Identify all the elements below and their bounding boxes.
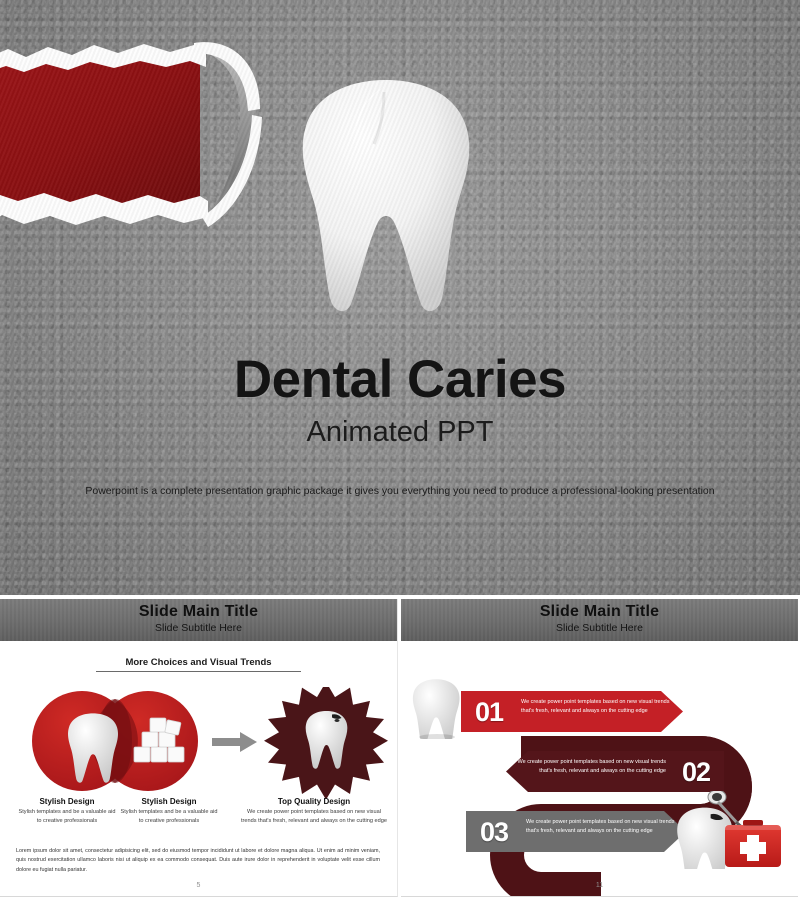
slide-thumbnails-row: Slide Main Title Slide Subtitle Here Mor… <box>0 595 800 900</box>
slide-title: Slide Main Title <box>0 599 397 621</box>
section-heading-rule <box>96 671 301 672</box>
page-description: Powerpoint is a complete presentation gr… <box>0 483 800 500</box>
process-diagram: 01 We create power point templates based… <box>401 599 798 896</box>
step-number: 01 <box>475 699 503 726</box>
caption-item: Stylish Design Stylish templates and be … <box>120 797 218 825</box>
first-aid-kit-icon <box>725 820 781 867</box>
step-text: We create power point templates based on… <box>521 698 671 716</box>
slide-header: Slide Main Title Slide Subtitle Here <box>0 599 397 641</box>
caption-title: Top Quality Design <box>240 797 388 806</box>
hero-slide: Dental Caries Animated PPT Powerpoint is… <box>0 0 800 595</box>
step-number: 03 <box>480 819 508 846</box>
section-heading: More Choices and Visual Trends <box>96 657 301 672</box>
section-heading-label: More Choices and Visual Trends <box>96 657 301 668</box>
presentation-preview-page: Dental Caries Animated PPT Powerpoint is… <box>0 0 800 900</box>
slide-page-number: 5 <box>0 882 397 889</box>
step-text: We create power point templates based on… <box>526 818 678 836</box>
caption-item: Stylish Design Stylish templates and be … <box>18 797 116 825</box>
slide-title: Slide Main Title <box>401 599 798 621</box>
process-step-01: 01 We create power point templates based… <box>461 691 683 732</box>
caption-title: Stylish Design <box>120 797 218 806</box>
torn-paper-graphic <box>0 33 262 233</box>
body-paragraph: Lorem ipsum dolor sit amet, consectetur … <box>16 847 380 875</box>
page-subtitle: Animated PPT <box>0 416 800 449</box>
starburst-result <box>262 687 390 799</box>
hero-text-block: Dental Caries Animated PPT Powerpoint is… <box>0 352 800 500</box>
process-step-02: 02 We create power point templates based… <box>506 751 724 792</box>
process-step-03: 03 We create power point templates based… <box>466 811 686 852</box>
slide-thumbnail-5[interactable]: Slide Main Title Slide Subtitle Here Mor… <box>0 599 398 897</box>
caption-item: Top Quality Design We create power point… <box>240 797 388 825</box>
dental-tools-group <box>673 791 783 869</box>
slide-subtitle: Slide Subtitle Here <box>401 622 798 634</box>
step-text: We create power point templates based on… <box>516 758 666 776</box>
slide-subtitle: Slide Subtitle Here <box>0 622 397 634</box>
slide-thumbnail-11[interactable]: Slide Main Title Slide Subtitle Here <box>401 599 798 897</box>
hero-tooth-icon <box>296 72 476 322</box>
caption-group: Stylish Design Stylish templates and be … <box>8 797 389 847</box>
slide-page-number: 11 <box>401 882 798 889</box>
venn-diagram <box>30 689 210 799</box>
caption-title: Stylish Design <box>18 797 116 806</box>
caption-body: Stylish templates and be a valuable aid … <box>120 808 218 825</box>
page-title: Dental Caries <box>0 352 800 408</box>
right-arrow-icon <box>212 731 258 753</box>
tooth-icon <box>411 677 463 739</box>
step-number: 02 <box>682 759 710 786</box>
caption-body: Stylish templates and be a valuable aid … <box>18 808 116 825</box>
caption-body: We create power point templates based on… <box>240 808 388 825</box>
